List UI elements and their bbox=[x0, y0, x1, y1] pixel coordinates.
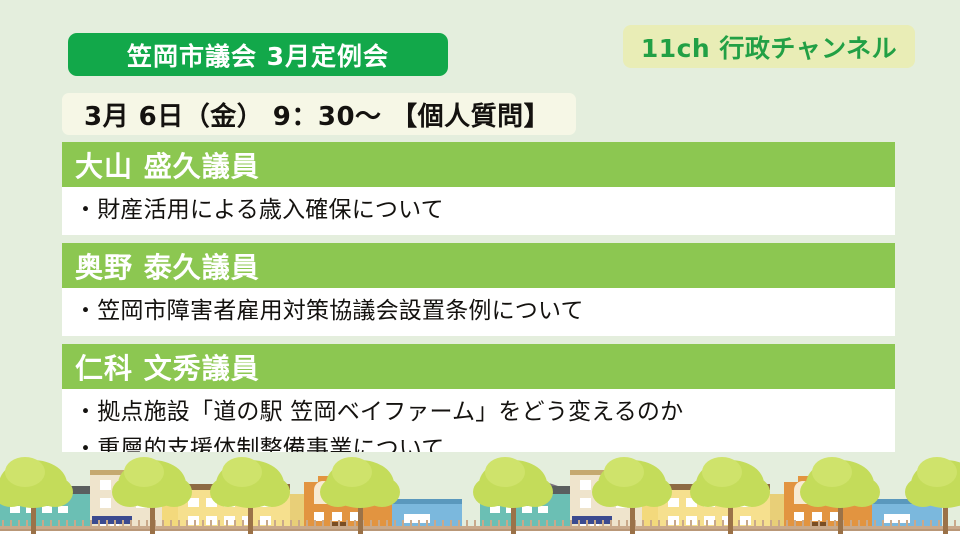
member-name-label: 仁科 文秀議員 bbox=[75, 347, 260, 387]
slide-root: 笠岡市議会 3月定例会 11ch 行政チャンネル 3月 6日（金） 9：30〜 … bbox=[0, 0, 960, 540]
session-title-text: 笠岡市議会 3月定例会 bbox=[127, 37, 389, 73]
channel-badge-text: 11ch 行政チャンネル bbox=[641, 29, 897, 65]
member-name-label: 大山 盛久議員 bbox=[75, 145, 260, 185]
member-block: 奥野 泰久議員 ・笠岡市障害者雇用対策協議会設置条例について bbox=[62, 243, 895, 336]
townscape-illustration bbox=[0, 452, 960, 540]
session-title-banner: 笠岡市議会 3月定例会 bbox=[68, 33, 448, 76]
member-name-bar: 大山 盛久議員 bbox=[62, 142, 895, 187]
topic-item: ・財産活用による歳入確保について bbox=[74, 192, 895, 229]
member-topic-list: ・財産活用による歳入確保について bbox=[62, 187, 895, 235]
member-name-label: 奥野 泰久議員 bbox=[75, 246, 260, 286]
member-block-list: 大山 盛久議員 ・財産活用による歳入確保について 奥野 泰久議員 ・笠岡市障害者… bbox=[62, 142, 895, 482]
member-block: 大山 盛久議員 ・財産活用による歳入確保について bbox=[62, 142, 895, 235]
topic-item: ・笠岡市障害者雇用対策協議会設置条例について bbox=[74, 293, 895, 330]
topic-item: ・拠点施設「道の駅 笠岡ベイファーム」をどう変えるのか bbox=[74, 394, 895, 431]
session-date-bar: 3月 6日（金） 9：30〜 【個人質問】 bbox=[62, 93, 576, 135]
member-topic-list: ・笠岡市障害者雇用対策協議会設置条例について bbox=[62, 288, 895, 336]
member-name-bar: 奥野 泰久議員 bbox=[62, 243, 895, 288]
session-date-text: 3月 6日（金） 9：30〜 【個人質問】 bbox=[84, 96, 550, 133]
channel-badge: 11ch 行政チャンネル bbox=[623, 25, 915, 68]
member-name-bar: 仁科 文秀議員 bbox=[62, 344, 895, 389]
